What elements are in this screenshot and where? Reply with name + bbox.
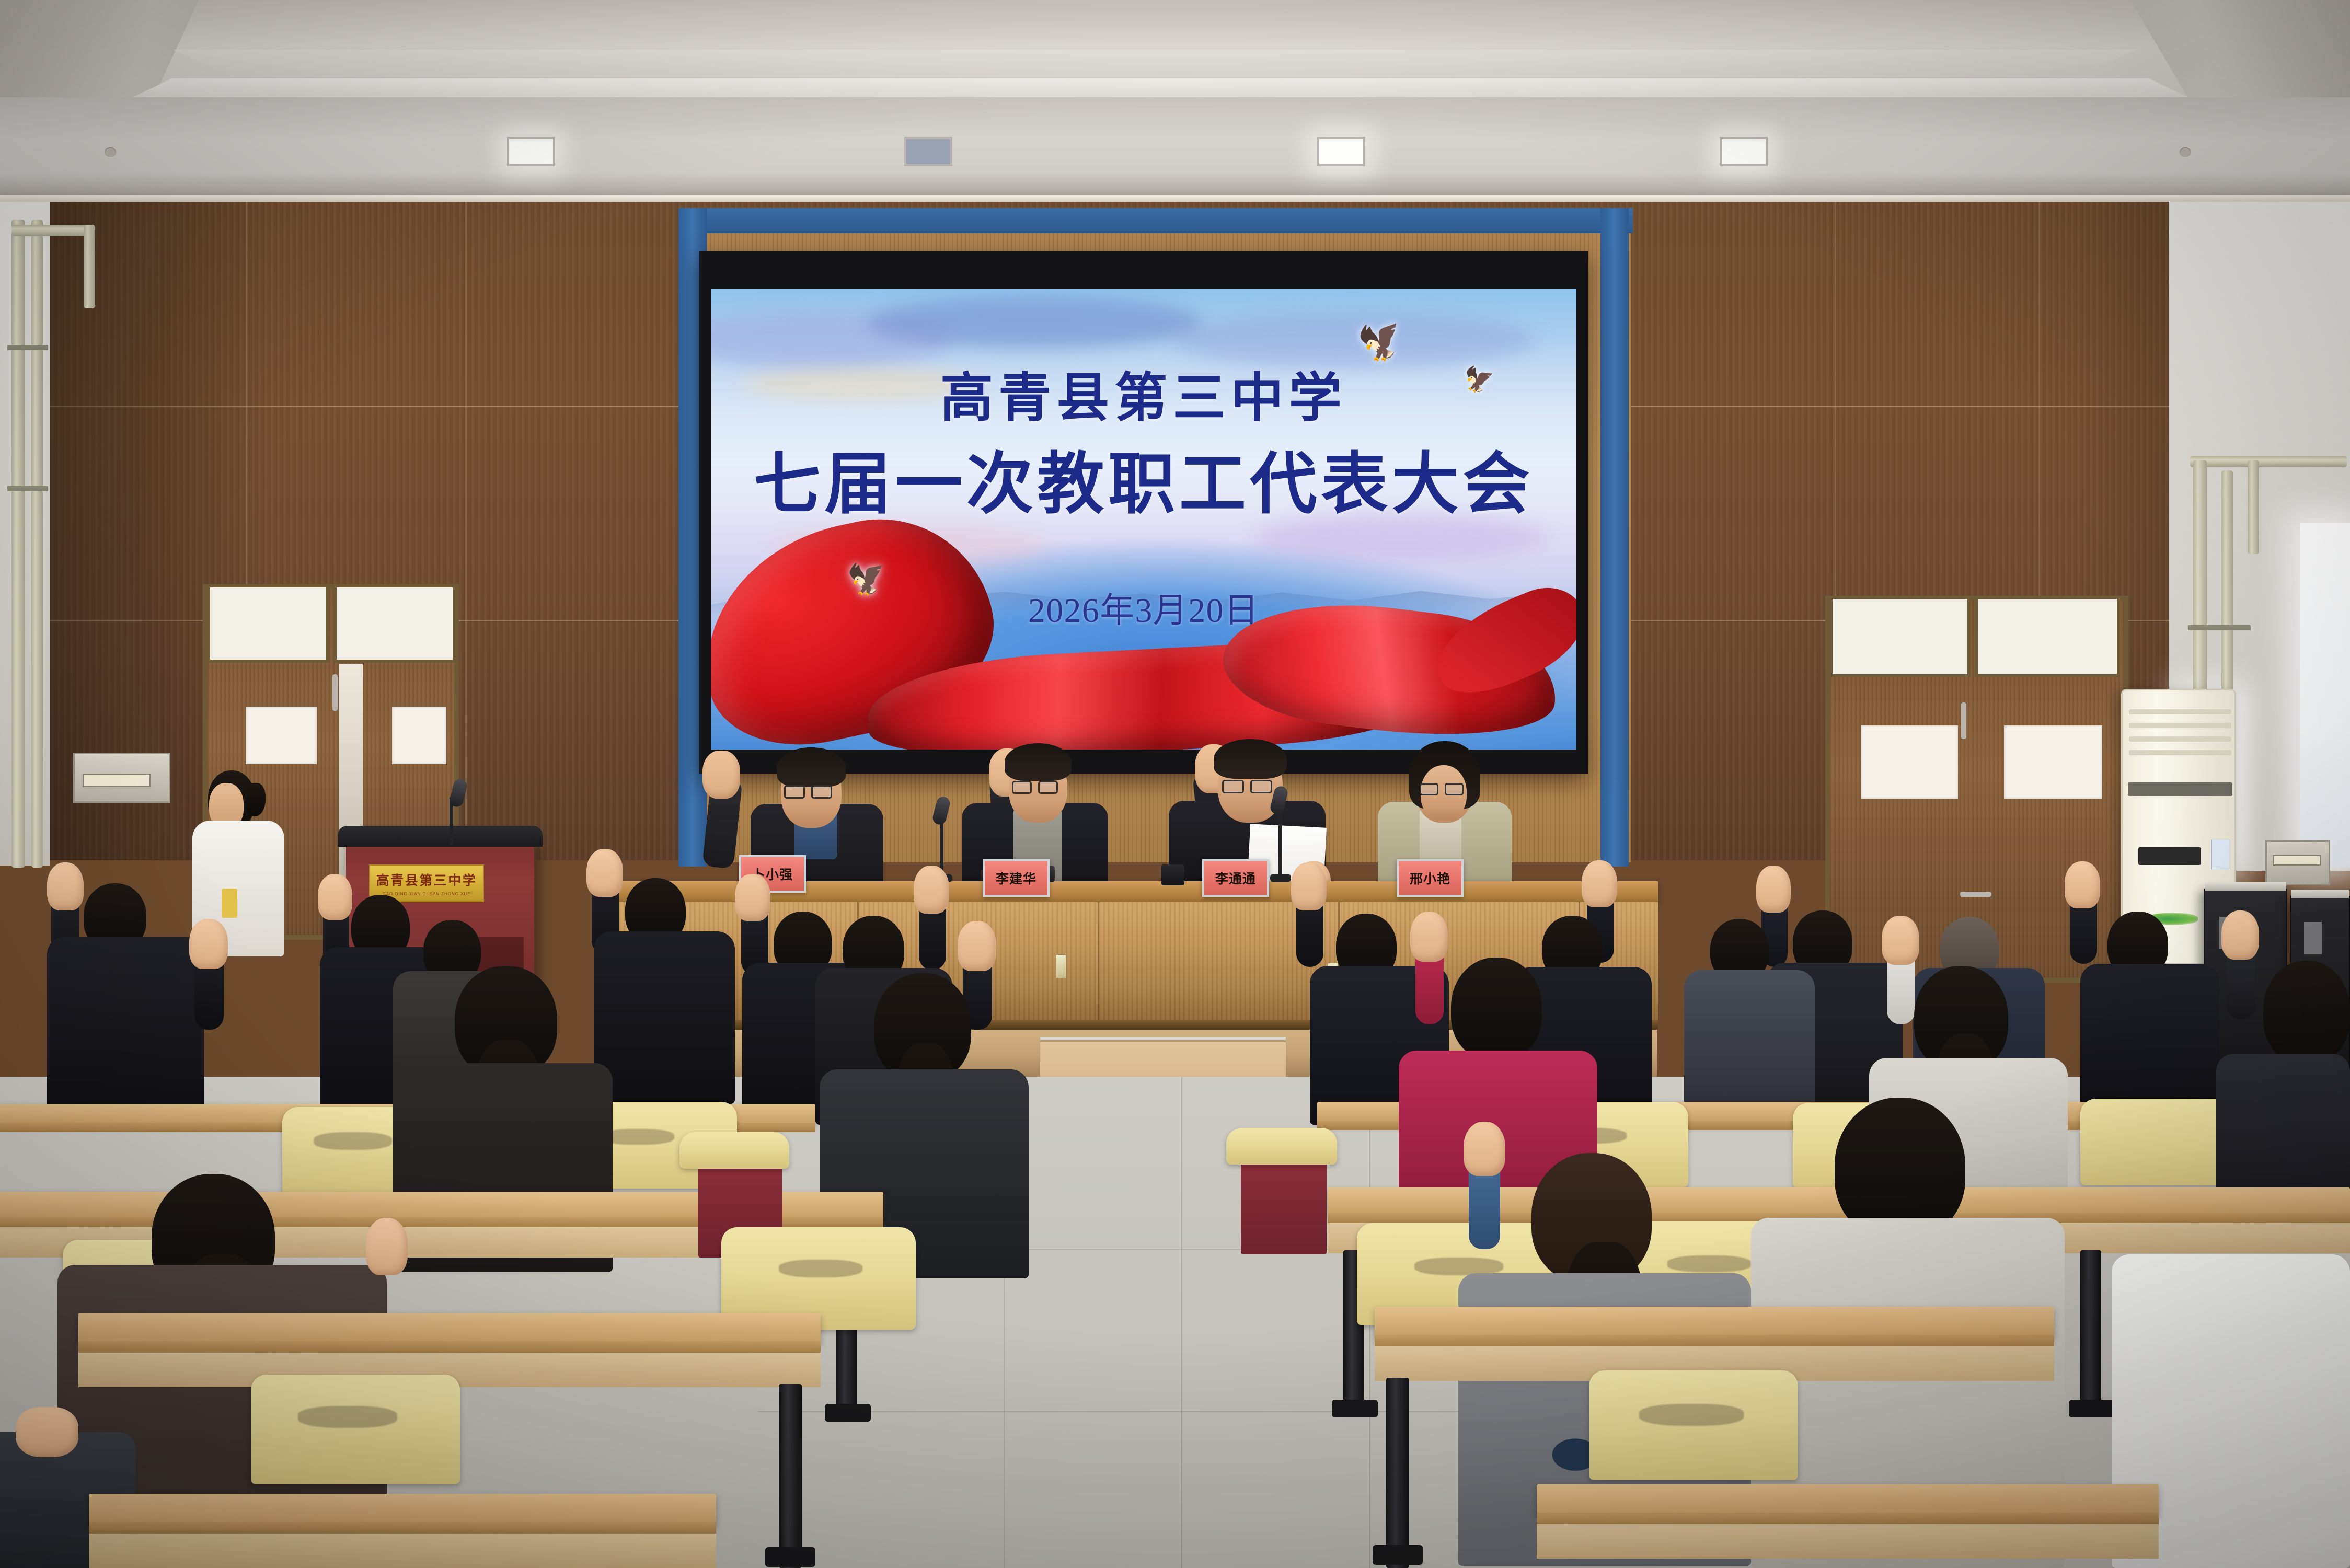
- door-left-transom-a: [207, 584, 329, 663]
- raised-hand: [1410, 912, 1448, 962]
- ac-louver: [2129, 750, 2231, 755]
- door-right-transom-a: [1829, 596, 1971, 677]
- nameplate-3-text: 李通通: [1215, 869, 1256, 887]
- chair-back[interactable]: [1589, 1370, 1798, 1480]
- head-table-mic-stand-2: [1278, 806, 1282, 878]
- chair-scuff: [779, 1260, 862, 1277]
- door-left-handle[interactable]: [332, 674, 338, 711]
- raised-hand: [958, 921, 996, 971]
- pipe-clamp: [2188, 625, 2251, 630]
- desk-edge: [78, 1341, 821, 1354]
- raised-hand: [586, 849, 623, 897]
- person-head: [1451, 958, 1542, 1060]
- panelist-4-glasses: [1445, 783, 1464, 795]
- ac-louver: [2129, 709, 2231, 714]
- raised-hand: [1882, 916, 1919, 965]
- panelist-1-raised-hand: [702, 751, 740, 799]
- pipe-clamp: [7, 345, 48, 350]
- panelist-3-glasses: [1222, 780, 1244, 793]
- panelist-2-hair: [1005, 743, 1072, 781]
- ceiling-light-4: [1720, 137, 1768, 166]
- staff-badge: [222, 889, 237, 918]
- head-table-seam: [1098, 902, 1099, 1025]
- lectern-top-surface: [338, 826, 543, 847]
- hand-on-desk: [16, 1407, 78, 1457]
- desk-edge: [1375, 1335, 2054, 1347]
- ac-louver: [2129, 723, 2231, 728]
- panelist-3-glasses: [1250, 780, 1272, 793]
- ceiling-light-2: [904, 137, 952, 166]
- cloud: [868, 298, 1202, 348]
- raised-hand: [1291, 862, 1327, 910]
- dove-icon: 🦅: [846, 561, 889, 597]
- chair-scuff: [298, 1406, 397, 1428]
- nameplate-4-text: 邢小艳: [1410, 869, 1450, 887]
- wall-box-slot: [83, 774, 151, 787]
- raised-hand: [366, 1218, 408, 1275]
- pipe-vertical-left-a: [11, 220, 25, 868]
- panelist-2-glasses: [1012, 781, 1032, 794]
- raised-hand: [318, 874, 352, 920]
- lectern-plate-pinyin: GAO QING XIAN DI SAN ZHONG XUE: [383, 892, 471, 896]
- desk-surface: [1375, 1307, 2054, 1338]
- desk-leg: [2080, 1250, 2101, 1407]
- raised-hand: [914, 866, 949, 914]
- desk-surface: [78, 1313, 821, 1344]
- lectern-plate-chinese: 高青县第三中学: [376, 870, 477, 889]
- raised-hand: [1582, 860, 1617, 907]
- chair-scuff: [314, 1132, 392, 1150]
- screen-title-line-1: 高青县第三中学: [711, 355, 1576, 432]
- folding-seat-red[interactable]: [1241, 1153, 1327, 1254]
- ac-display-panel[interactable]: [2138, 847, 2201, 865]
- electrical-box-slot: [2273, 855, 2321, 866]
- person-torso: [47, 937, 204, 1114]
- desk-surface-nearest: [89, 1494, 716, 1526]
- raised-hand: [189, 919, 228, 969]
- panelist-1-glasses: [784, 785, 805, 799]
- pipe-elbow-left: [84, 225, 95, 308]
- ceiling-light-3: [1317, 137, 1365, 166]
- chair-back[interactable]: [251, 1375, 460, 1484]
- chair-scuff: [1639, 1404, 1744, 1426]
- desk-foot: [1373, 1545, 1423, 1565]
- projection-screen: 高青县第三中学 七届一次教职工代表大会 2026年3月20日 🦅 🦅 🦅: [711, 289, 1576, 750]
- head-table-latch: [1056, 954, 1066, 978]
- ceiling-band-lower: [131, 78, 2190, 98]
- door-left-glass-b: [392, 707, 446, 764]
- pipe-vertical-left-b: [31, 220, 43, 868]
- desk-foot: [765, 1547, 815, 1567]
- pipe-horizontal-left: [11, 225, 95, 236]
- window-right: [2300, 523, 2350, 868]
- desk-foot: [825, 1404, 871, 1422]
- chair-back[interactable]: [679, 1132, 789, 1169]
- ac-air-vent: [2128, 782, 2232, 796]
- door-right-handle-lever[interactable]: [1960, 892, 1991, 897]
- door-left-transom-b: [333, 584, 456, 663]
- panelist-1-glasses: [811, 785, 832, 799]
- ac-louver: [2129, 736, 2231, 742]
- staff-hair-tie: [245, 783, 266, 816]
- desk-apron: [89, 1534, 716, 1568]
- pipe-vertical-right-c: [2248, 460, 2259, 554]
- door-left-glass-a: [246, 707, 317, 764]
- desk-surface-nearest: [1537, 1484, 2159, 1517]
- dove-icon: 🦅: [1461, 365, 1495, 394]
- desk-leg: [1386, 1378, 1409, 1568]
- desk-leg: [779, 1384, 802, 1568]
- chair-back[interactable]: [1226, 1128, 1337, 1165]
- panelist-3-hair: [1214, 739, 1287, 779]
- person-head: [2263, 961, 2350, 1063]
- door-right-handle-top[interactable]: [1961, 702, 1966, 739]
- ceiling-fixture-right: [2180, 147, 2191, 157]
- door-right-transom-b: [1975, 596, 2120, 677]
- desk-foot: [1332, 1400, 1378, 1417]
- small-device-on-table-2: [1161, 864, 1184, 885]
- wall-seam: [465, 202, 467, 860]
- ac-energy-label: [2211, 840, 2229, 869]
- raised-hand: [2065, 861, 2100, 908]
- cabinet-top-surface: [2205, 882, 2286, 891]
- screen-title-line-2: 七届一次教职工代表大会: [711, 430, 1576, 526]
- panelist-4-glasses: [1420, 783, 1438, 795]
- conference-hall-photo: 高青县第三中学 七届一次教职工代表大会 2026年3月20日 🦅 🦅 🦅 高青县…: [0, 0, 2350, 1568]
- person-torso: [1684, 970, 1815, 1122]
- chair-scuff: [1667, 1255, 1751, 1272]
- raised-hand: [1756, 866, 1791, 913]
- nameplate-2-text: 李建华: [996, 869, 1036, 887]
- door-right-glass-b: [2004, 725, 2102, 799]
- ceiling-fixture-left: [105, 147, 116, 157]
- raised-hand: [1464, 1122, 1505, 1176]
- panelist-2-glasses: [1038, 781, 1058, 794]
- nameplate-2: 李建华: [983, 859, 1050, 897]
- person-torso: [594, 931, 735, 1104]
- cabinet-top-surface: [2291, 890, 2349, 898]
- projection-screen-frame: 高青县第三中学 七届一次教职工代表大会 2026年3月20日 🦅 🦅 🦅: [699, 251, 1588, 774]
- pipe-horizontal-right: [2190, 456, 2347, 467]
- nameplate-3: 李通通: [1202, 859, 1269, 897]
- cabinet-label: [2304, 922, 2322, 954]
- person-torso: [2080, 964, 2219, 1121]
- pipe-clamp: [7, 486, 48, 491]
- panelist-1-hair: [777, 747, 846, 787]
- raised-hand: [735, 874, 770, 921]
- door-right-glass-a: [1861, 725, 1958, 799]
- ceiling-light-1: [507, 137, 555, 166]
- desk-foot: [2069, 1400, 2115, 1417]
- raised-hand: [47, 862, 84, 910]
- floor-tile-line: [1181, 1077, 1182, 1568]
- chair-scuff: [1414, 1258, 1503, 1275]
- stage-accent-band: [678, 208, 1633, 233]
- raised-hand: [2221, 910, 2259, 960]
- head-table-mic-base-2: [1270, 874, 1291, 882]
- stage-accent-pillar-right: [1600, 208, 1629, 867]
- desk-apron: [1537, 1524, 2159, 1559]
- nameplate-4: 邢小艳: [1397, 859, 1464, 897]
